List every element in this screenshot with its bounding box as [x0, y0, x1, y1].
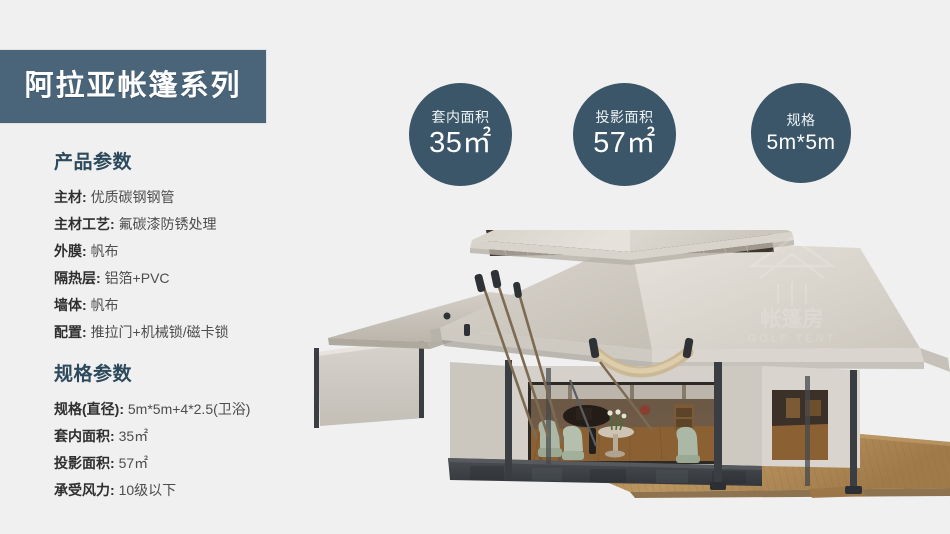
- watermark-text: 帐篷房: [761, 307, 824, 331]
- spec-value: 优质碳钢钢管: [91, 189, 175, 205]
- spec-value: 铝箔+PVC: [105, 270, 170, 286]
- spec-value: 推拉门+机械锁/磁卡锁: [91, 324, 229, 340]
- spec-value: 57㎡: [119, 455, 149, 471]
- stat-value: 35㎡: [429, 128, 492, 160]
- left-screen-wall: [314, 336, 424, 428]
- spec-value: 帆布: [91, 243, 119, 259]
- page-title: 阿拉亚帐篷系列: [24, 72, 241, 101]
- spec-value: 氟碳漆防锈处理: [119, 216, 217, 232]
- spec-value: 35㎡: [119, 428, 149, 444]
- spec-value: 帆布: [91, 297, 119, 313]
- stat-label: 套内面积: [432, 109, 490, 126]
- stat-value: 5m*5m: [766, 131, 835, 154]
- stat-circle-dimensions: 规格 5m*5m: [751, 83, 851, 183]
- spec-value: 10级以下: [119, 482, 177, 498]
- stat-value: 57㎡: [593, 128, 656, 160]
- spec-label: 配置:: [54, 324, 87, 340]
- right-bay: [762, 366, 860, 468]
- stat-circle-projected-area: 投影面积 57㎡: [573, 83, 676, 186]
- stat-label: 规格: [787, 112, 816, 129]
- spec-label: 规格(直径):: [54, 401, 124, 417]
- page-root: 阿拉亚帐篷系列 产品参数 主材: 优质碳钢钢管 主材工艺: 氟碳漆防锈处理 外膜…: [0, 0, 950, 534]
- spec-label: 投影面积:: [54, 455, 115, 471]
- spec-value: 5m*5m+4*2.5(卫浴): [128, 401, 251, 417]
- title-banner: 阿拉亚帐篷系列: [0, 50, 266, 123]
- spec-label: 承受风力:: [54, 482, 115, 498]
- stat-label: 投影面积: [596, 109, 654, 126]
- watermark-subtext: GOLF TENT: [748, 333, 837, 345]
- spec-label: 套内面积:: [54, 428, 115, 444]
- spec-label: 隔热层:: [54, 270, 101, 286]
- product-params-heading: 产品参数: [54, 152, 354, 175]
- stat-circle-interior-area: 套内面积 35㎡: [409, 83, 512, 186]
- spec-label: 主材:: [54, 189, 87, 205]
- spec-label: 外膜:: [54, 243, 87, 259]
- spec-label: 墙体:: [54, 297, 87, 313]
- spec-row: 主材: 优质碳钢钢管: [54, 184, 354, 211]
- spec-label: 主材工艺:: [54, 216, 115, 232]
- tent-illustration: 帐篷房 GOLF TENT: [300, 230, 950, 500]
